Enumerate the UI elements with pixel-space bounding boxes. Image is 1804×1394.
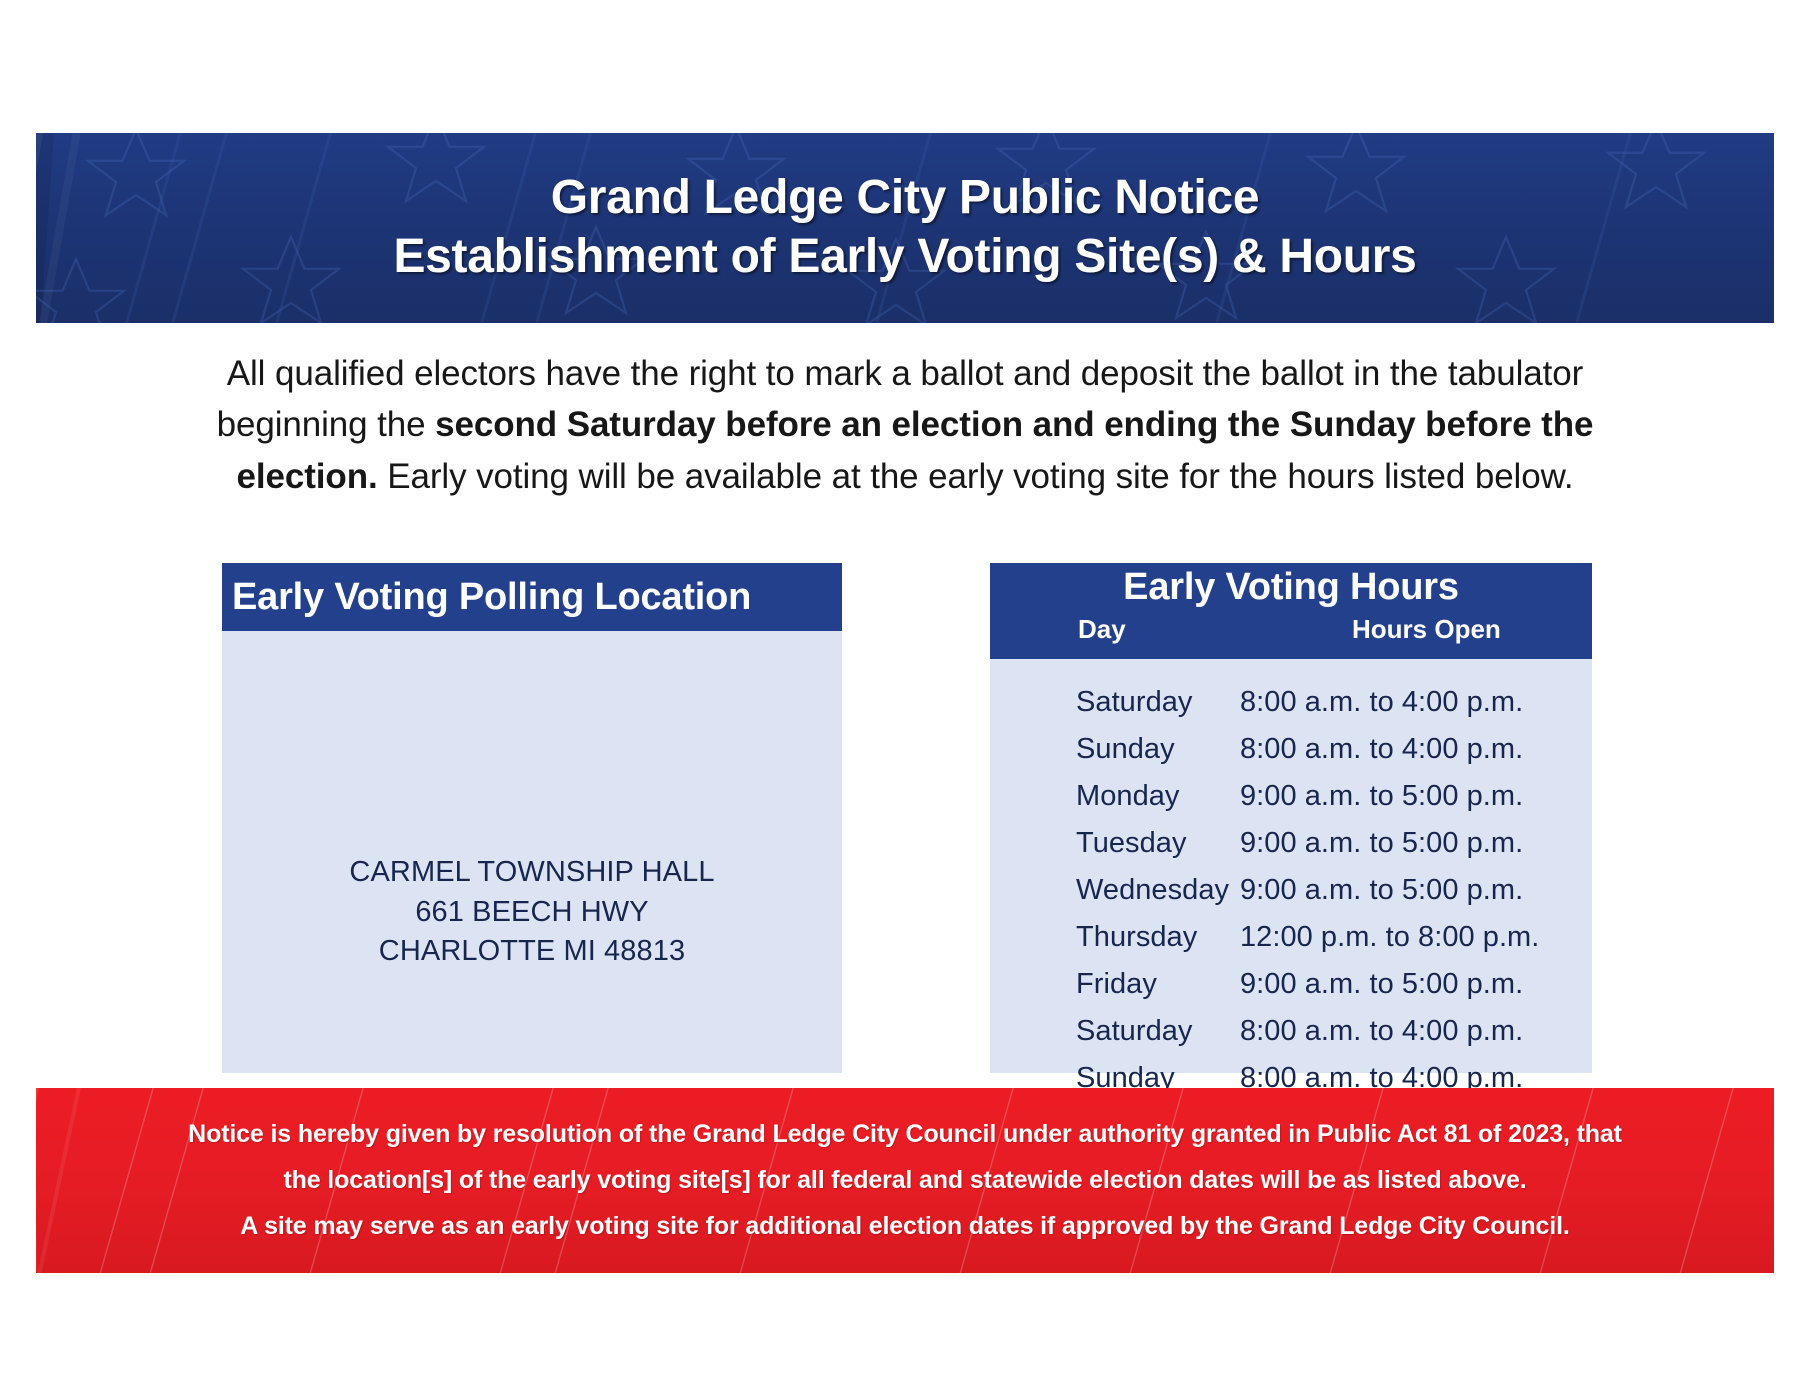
hours-row-day: Monday — [990, 773, 1240, 820]
early-voting-hours-body: Saturday8:00 a.m. to 4:00 p.m.Sunday8:00… — [990, 659, 1592, 1073]
hours-table-row: Monday9:00 a.m. to 5:00 p.m. — [990, 773, 1592, 820]
polling-location-title: Early Voting Polling Location — [232, 576, 751, 619]
header-title-line-1: Grand Ledge City Public Notice — [551, 170, 1259, 227]
intro-paragraph: All qualified electors have the right to… — [210, 348, 1600, 502]
hours-table-row: Sunday8:00 a.m. to 4:00 p.m. — [990, 726, 1592, 773]
hours-table-row: Thursday12:00 p.m. to 8:00 p.m. — [990, 914, 1592, 961]
footer-notice-line-3: A site may serve as an early voting site… — [240, 1212, 1569, 1241]
hours-row-day: Thursday — [990, 914, 1240, 961]
header-banner: Grand Ledge City Public Notice Establish… — [36, 133, 1774, 323]
hours-table-body: Saturday8:00 a.m. to 4:00 p.m.Sunday8:00… — [990, 679, 1592, 1102]
hours-row-time: 9:00 a.m. to 5:00 p.m. — [1240, 820, 1592, 867]
address-line-2: 661 BEECH HWY — [222, 893, 842, 933]
hours-row-day: Friday — [990, 961, 1240, 1008]
hours-row-time: 12:00 p.m. to 8:00 p.m. — [1240, 914, 1592, 961]
early-voting-hours-title: Early Voting Hours — [990, 566, 1592, 609]
polling-location-panel: Early Voting Polling Location CARMEL TOW… — [222, 563, 842, 1073]
hours-table: Saturday8:00 a.m. to 4:00 p.m.Sunday8:00… — [990, 679, 1592, 1102]
hours-row-day: Saturday — [990, 1008, 1240, 1055]
address-line-1: CARMEL TOWNSHIP HALL — [222, 853, 842, 893]
hours-table-row: Saturday8:00 a.m. to 4:00 p.m. — [990, 1008, 1592, 1055]
address-line-3: CHARLOTTE MI 48813 — [222, 932, 842, 972]
polling-location-header: Early Voting Polling Location — [222, 563, 842, 631]
polling-location-address: CARMEL TOWNSHIP HALL 661 BEECH HWY CHARL… — [222, 853, 842, 972]
footer-notice-line-2: the location[s] of the early voting site… — [283, 1166, 1526, 1195]
footer-notice-line-1: Notice is hereby given by resolution of … — [188, 1120, 1622, 1149]
hours-row-time: 9:00 a.m. to 5:00 p.m. — [1240, 867, 1592, 914]
hours-table-row: Tuesday9:00 a.m. to 5:00 p.m. — [990, 820, 1592, 867]
footer-notice-banner: Notice is hereby given by resolution of … — [36, 1088, 1774, 1273]
column-header-day: Day — [1078, 614, 1126, 645]
hours-table-row: Friday9:00 a.m. to 5:00 p.m. — [990, 961, 1592, 1008]
hours-row-time: 9:00 a.m. to 5:00 p.m. — [1240, 961, 1592, 1008]
hours-table-row: Saturday8:00 a.m. to 4:00 p.m. — [990, 679, 1592, 726]
hours-row-time: 9:00 a.m. to 5:00 p.m. — [1240, 773, 1592, 820]
early-voting-hours-panel: Early Voting Hours Day Hours Open Saturd… — [990, 563, 1592, 1073]
hours-row-day: Wednesday — [990, 867, 1240, 914]
hours-row-time: 8:00 a.m. to 4:00 p.m. — [1240, 726, 1592, 773]
polling-location-body: CARMEL TOWNSHIP HALL 661 BEECH HWY CHARL… — [222, 631, 842, 1073]
column-header-hours-open: Hours Open — [1352, 614, 1501, 645]
public-notice-page: Grand Ledge City Public Notice Establish… — [0, 0, 1804, 1394]
hours-row-day: Saturday — [990, 679, 1240, 726]
header-title-line-2: Establishment of Early Voting Site(s) & … — [393, 229, 1416, 286]
hours-table-row: Wednesday9:00 a.m. to 5:00 p.m. — [990, 867, 1592, 914]
hours-row-day: Tuesday — [990, 820, 1240, 867]
early-voting-hours-header: Early Voting Hours Day Hours Open — [990, 563, 1592, 659]
hours-row-time: 8:00 a.m. to 4:00 p.m. — [1240, 679, 1592, 726]
hours-row-day: Sunday — [990, 726, 1240, 773]
hours-row-time: 8:00 a.m. to 4:00 p.m. — [1240, 1008, 1592, 1055]
header-title-block: Grand Ledge City Public Notice Establish… — [36, 133, 1774, 323]
intro-text-part-2: Early voting will be available at the ea… — [378, 457, 1574, 496]
